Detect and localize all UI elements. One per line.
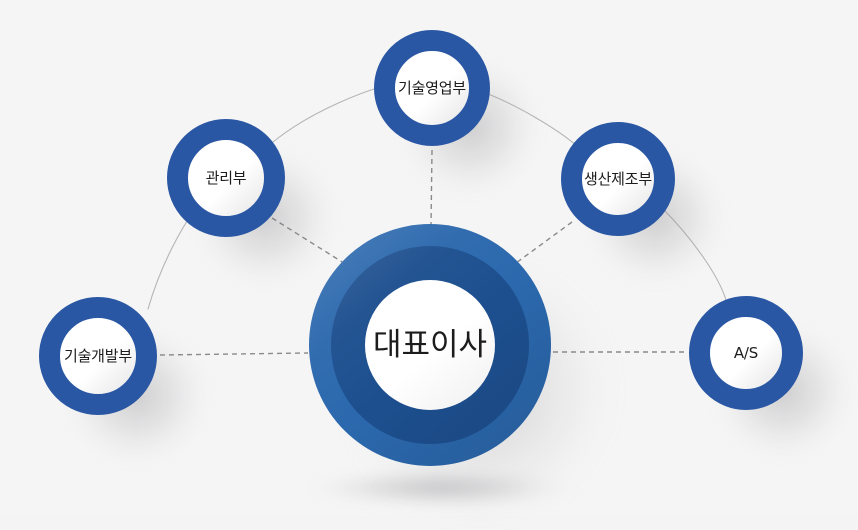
org-chart-diagram: 대표이사 기술개발부 관리부 기술영업부 생산제조부 A/S — [0, 0, 858, 516]
spoke-hub-to-techdev — [160, 353, 308, 355]
spoke-hub-to-sales — [431, 150, 432, 226]
branch-label-tech-development: 기술개발부 — [64, 349, 132, 364]
branch-label-production: 생산제조부 — [584, 172, 652, 187]
branch-node-technical-sales[interactable]: 기술영업부 — [374, 30, 490, 146]
branch-node-management[interactable]: 관리부 — [167, 119, 285, 237]
branch-node-tech-development[interactable]: 기술개발부 — [39, 297, 157, 415]
branch-label-technical-sales: 기술영업부 — [398, 81, 466, 96]
hub-label: 대표이사 — [373, 330, 487, 361]
branch-node-after-service[interactable]: A/S — [689, 296, 803, 410]
arc-sales-to-production — [483, 92, 577, 146]
arc-production-to-as — [662, 208, 726, 300]
hub-core-disc: 대표이사 — [365, 280, 495, 410]
hub-node-ceo[interactable]: 대표이사 — [309, 224, 551, 466]
arc-management-to-sales — [273, 87, 381, 142]
spoke-hub-to-production — [516, 222, 572, 263]
spoke-hub-to-management — [272, 218, 347, 265]
branch-node-production[interactable]: 생산제조부 — [561, 122, 675, 236]
branch-label-management: 관리부 — [206, 171, 247, 186]
branch-label-after-service: A/S — [734, 346, 758, 361]
